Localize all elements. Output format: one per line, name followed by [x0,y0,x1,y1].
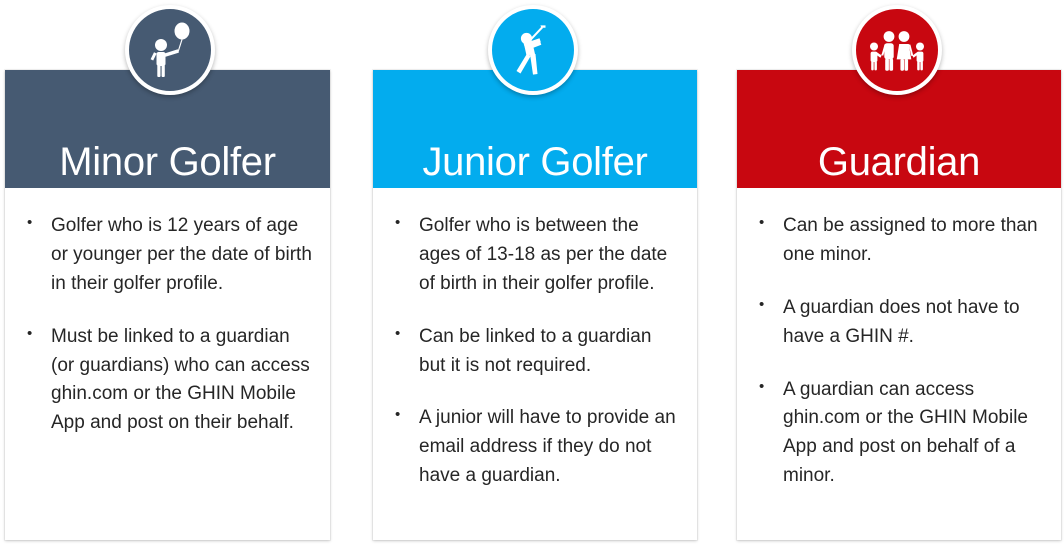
card-title-minor-golfer: Minor Golfer [59,142,275,182]
golfer-swinging-icon [488,5,578,95]
card-body-minor-golfer: Golfer who is 12 years of age or younger… [5,188,330,540]
role-comparison-board: Minor Golfer Golfer who is 12 years of a… [0,0,1064,552]
list-item: Can be linked to a guardian but it is no… [385,323,683,381]
card-minor-golfer: Minor Golfer Golfer who is 12 years of a… [5,70,330,540]
child-with-balloon-icon [125,5,215,95]
card-body-guardian: Can be assigned to more than one minor. … [737,188,1061,540]
bullet-list-junior-golfer: Golfer who is between the ages of 13-18 … [385,212,683,491]
list-item: A junior will have to provide an email a… [385,404,683,491]
list-item: Must be linked to a guardian (or guardia… [17,323,316,439]
bullet-list-minor-golfer: Golfer who is 12 years of age or younger… [17,212,316,438]
list-item: Golfer who is 12 years of age or younger… [17,212,316,299]
card-junior-golfer: Junior Golfer Golfer who is between the … [373,70,697,540]
card-body-junior-golfer: Golfer who is between the ages of 13-18 … [373,188,697,540]
bullet-list-guardian: Can be assigned to more than one minor. … [749,212,1047,491]
card-title-guardian: Guardian [818,142,980,182]
list-item: A guardian can access ghin.com or the GH… [749,376,1047,492]
list-item: A guardian does not have to have a GHIN … [749,294,1047,352]
list-item: Can be assigned to more than one minor. [749,212,1047,270]
card-guardian: Guardian Can be assigned to more than on… [737,70,1061,540]
list-item: Golfer who is between the ages of 13-18 … [385,212,683,299]
card-title-junior-golfer: Junior Golfer [422,142,647,182]
family-group-icon [852,5,942,95]
